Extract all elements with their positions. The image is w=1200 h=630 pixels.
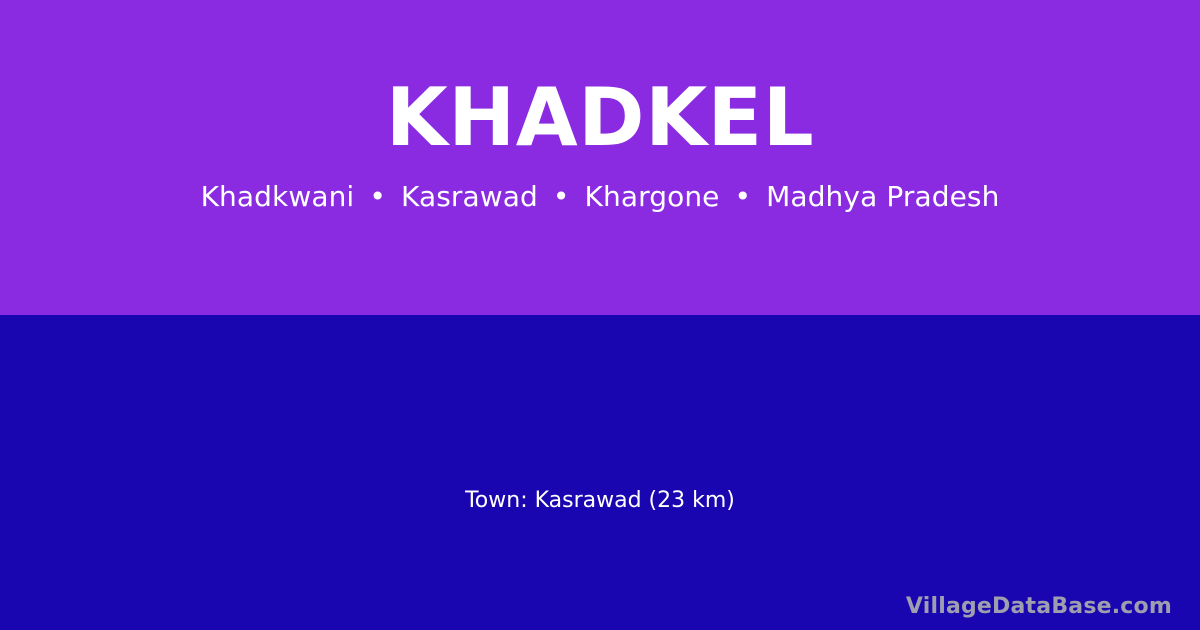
breadcrumb-separator: • [729, 180, 758, 213]
nearest-town-text: Town: Kasrawad (23 km) [0, 488, 1200, 514]
breadcrumb-separator: • [363, 180, 392, 213]
breadcrumb: Khadkwani • Kasrawad • Khargone • Madhya… [0, 181, 1200, 213]
breadcrumb-separator: • [547, 180, 576, 213]
breadcrumb-item-block: Kasrawad [401, 180, 538, 213]
breadcrumb-item-state: Madhya Pradesh [766, 180, 999, 213]
breadcrumb-item-village: Khadkwani [201, 180, 355, 213]
page-title: KHADKEL [0, 78, 1200, 158]
site-watermark: VillageDataBase.com [906, 594, 1172, 620]
body-band: Town: Kasrawad (23 km) VillageDataBase.c… [0, 315, 1200, 630]
header-band: KHADKEL Khadkwani • Kasrawad • Khargone … [0, 0, 1200, 315]
village-info-card: KHADKEL Khadkwani • Kasrawad • Khargone … [0, 0, 1200, 630]
breadcrumb-item-district: Khargone [585, 180, 720, 213]
